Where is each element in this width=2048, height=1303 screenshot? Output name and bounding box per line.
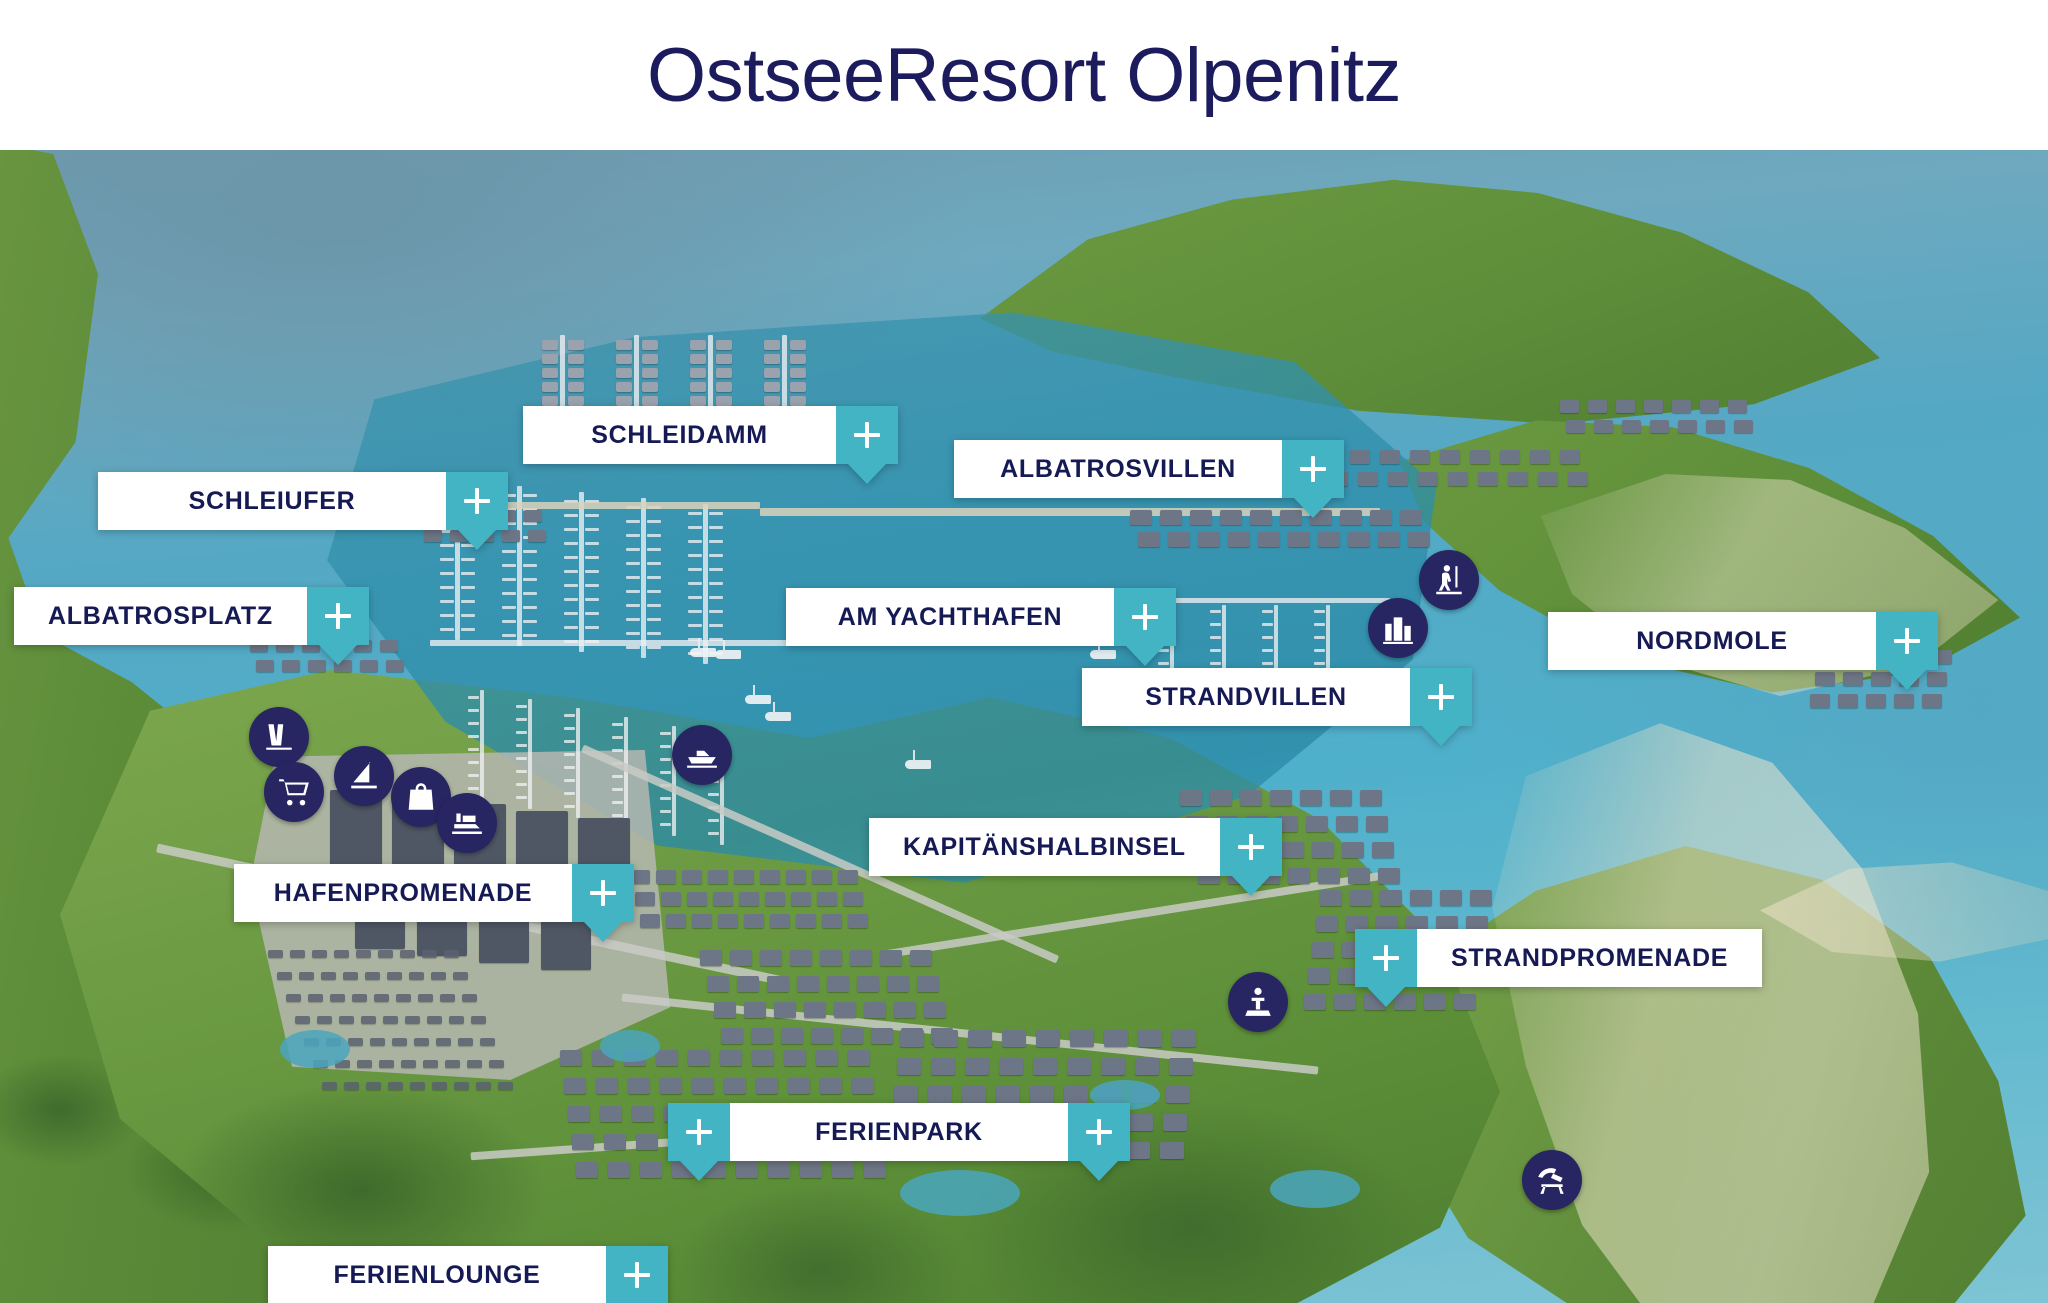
parked-car <box>431 972 446 980</box>
berth-slip <box>647 604 661 607</box>
parked-car <box>414 1038 429 1046</box>
moored-boat <box>764 368 780 378</box>
house-roof <box>767 976 789 992</box>
house-roof <box>968 1030 992 1047</box>
moored-boat <box>790 340 806 350</box>
parked-car <box>405 1016 420 1024</box>
berth-slip <box>647 562 661 565</box>
berth-slip <box>612 749 623 752</box>
house-roof <box>751 1028 773 1044</box>
house-roof <box>1300 790 1322 806</box>
moored-boat <box>716 382 732 392</box>
house-roof <box>636 1134 658 1150</box>
berth-slip <box>564 612 578 615</box>
parked-car <box>277 972 292 980</box>
berth-slip <box>626 618 640 621</box>
house-roof <box>744 914 764 928</box>
plus-pin-right-ferienlounge[interactable] <box>606 1246 668 1303</box>
hotspot-label-ferienpark: FERIENPARK <box>730 1103 1068 1161</box>
berth-slip <box>468 709 479 712</box>
berth-slip <box>626 548 640 551</box>
berth-slip <box>468 735 479 738</box>
house-roof <box>282 660 300 672</box>
house-roof <box>928 1086 952 1103</box>
moored-boat <box>568 368 584 378</box>
house-roof <box>850 950 872 966</box>
house-roof <box>788 1078 810 1094</box>
house-roof <box>720 1050 742 1066</box>
berth-slip <box>440 558 454 561</box>
house-roof <box>1410 450 1430 464</box>
hotspot-kapitaenshalbinsel[interactable]: KAPITÄNSHALBINSEL <box>869 818 1282 876</box>
berth-slip <box>440 572 454 575</box>
plus-pin-right-kapitaenshalbinsel[interactable] <box>1220 818 1282 876</box>
berth-slip <box>626 632 640 635</box>
house-roof <box>1180 790 1202 806</box>
plus-icon <box>590 880 616 906</box>
berth-slip <box>709 582 723 585</box>
house-roof <box>1348 532 1370 547</box>
parked-car <box>317 1016 332 1024</box>
house-roof <box>1734 420 1753 433</box>
sailboat <box>690 648 716 657</box>
parked-car <box>440 994 455 1002</box>
house-roof <box>871 1028 893 1044</box>
parked-car <box>445 1060 460 1068</box>
house-roof <box>857 976 879 992</box>
parked-car <box>339 1016 354 1024</box>
plus-pin-right-albatrosplatz[interactable] <box>307 587 369 645</box>
page-header: OstseeResort Olpenitz <box>0 0 2048 150</box>
motorboat-icon[interactable] <box>672 725 732 785</box>
house-roof <box>744 1002 766 1018</box>
house-roof <box>692 1078 714 1094</box>
house-roof <box>628 1078 650 1094</box>
hotspot-label-kapitaenshalbinsel: KAPITÄNSHALBINSEL <box>869 818 1220 876</box>
berth-slip <box>468 748 479 751</box>
house-roof <box>1454 994 1476 1010</box>
berth-slip <box>688 568 702 571</box>
house-roof <box>841 1028 863 1044</box>
moored-boat <box>542 354 558 364</box>
house-roof <box>1342 842 1364 858</box>
hotspot-label-albatrosvillen: ALBATROSVILLEN <box>954 440 1282 498</box>
pontoon-finger <box>641 498 646 658</box>
house-roof <box>528 530 546 542</box>
house-roof <box>864 1002 886 1018</box>
house-roof <box>714 1002 736 1018</box>
berth-slip <box>709 554 723 557</box>
house-roof <box>1706 420 1725 433</box>
house-roof <box>790 950 812 966</box>
plus-pin-right-hafenpromenade[interactable] <box>572 864 634 922</box>
moored-boat <box>790 382 806 392</box>
moored-boat <box>790 396 806 406</box>
parked-car <box>423 1060 438 1068</box>
parked-car <box>379 1060 394 1068</box>
plus-pin-right-albatrosvillen[interactable] <box>1282 440 1344 498</box>
house-roof <box>1101 1058 1125 1075</box>
berth-slip <box>688 526 702 529</box>
berth-slip <box>612 775 623 778</box>
house-roof <box>1160 1142 1184 1159</box>
parked-car <box>436 1038 451 1046</box>
hotspot-strandpromenade[interactable]: STRANDPROMENADE <box>1355 929 1762 987</box>
parked-car <box>343 972 358 980</box>
house-roof <box>1312 842 1334 858</box>
house-roof <box>1348 868 1370 884</box>
parked-car <box>444 950 459 958</box>
berth-slip <box>564 766 575 769</box>
moored-boat <box>764 354 780 364</box>
house-roof <box>524 510 542 522</box>
berth-slip <box>647 534 661 537</box>
house-roof <box>1030 1086 1054 1103</box>
berth-slip <box>688 582 702 585</box>
hotspot-ferienpark[interactable]: FERIENPARK <box>668 1103 1130 1161</box>
plus-icon <box>624 1262 650 1288</box>
house-roof <box>812 870 832 884</box>
berth-slip <box>564 570 578 573</box>
moored-boat <box>568 354 584 364</box>
house-roof <box>796 914 816 928</box>
plus-pin-left-strandpromenade[interactable] <box>1355 929 1417 987</box>
berth-slip <box>709 610 723 613</box>
parked-car <box>396 994 411 1002</box>
house-roof <box>1644 400 1663 413</box>
berth-slip <box>564 626 578 629</box>
parked-car <box>453 972 468 980</box>
house-roof <box>1336 816 1358 832</box>
house-roof <box>820 1078 842 1094</box>
berth-slip <box>564 792 575 795</box>
house-roof <box>687 892 707 906</box>
moored-boat <box>642 354 658 364</box>
berth-slip <box>516 718 527 721</box>
house-roof <box>1388 472 1408 486</box>
moored-boat <box>616 396 632 406</box>
house-roof <box>1566 420 1585 433</box>
pond <box>600 1030 660 1062</box>
house-roof <box>1410 890 1432 906</box>
moored-boat <box>542 368 558 378</box>
house-roof <box>692 914 712 928</box>
house-roof <box>1400 510 1422 525</box>
berth-slip <box>502 606 516 609</box>
house-roof <box>804 1002 826 1018</box>
parked-car <box>370 1038 385 1046</box>
parked-car <box>400 950 415 958</box>
parked-car <box>365 972 380 980</box>
house-roof <box>800 1162 822 1178</box>
parked-car <box>388 1082 403 1090</box>
plus-icon <box>1300 456 1326 482</box>
house-roof <box>734 870 754 884</box>
plus-pin-right-am-yachthafen[interactable] <box>1114 588 1176 646</box>
house-roof <box>1172 1030 1196 1047</box>
house-roof <box>360 660 378 672</box>
berth-slip <box>564 779 575 782</box>
house-roof <box>1036 1030 1060 1047</box>
shopping-cart-icon[interactable] <box>264 762 324 822</box>
berth-slip <box>1314 662 1325 665</box>
parked-car <box>330 994 345 1002</box>
berth-slip <box>502 550 516 553</box>
berth-slip <box>709 512 723 515</box>
house-roof <box>1135 1058 1159 1075</box>
moored-boat <box>690 382 706 392</box>
hotspot-label-strandvillen: STRANDVILLEN <box>1082 668 1410 726</box>
berth-slip <box>564 556 578 559</box>
berth-slip <box>468 774 479 777</box>
berth-slip <box>612 788 623 791</box>
house-roof <box>1318 532 1340 547</box>
berth-slip <box>626 534 640 537</box>
pontoon-finger <box>560 335 565 410</box>
resort-aerial-map[interactable]: SCHLEIDAMMSCHLEIUFERALBATROSVILLENALBATR… <box>0 150 2048 1303</box>
hotspot-ferienlounge[interactable]: FERIENLOUNGE <box>268 1246 668 1303</box>
house-roof <box>1418 472 1438 486</box>
berth-slip <box>709 568 723 571</box>
parked-car <box>334 950 349 958</box>
hotspot-am-yachthafen[interactable]: AM YACHTHAFEN <box>786 588 1176 646</box>
house-roof <box>1616 400 1635 413</box>
parked-car <box>418 994 433 1002</box>
main-pier <box>430 640 790 646</box>
berth-slip <box>516 783 527 786</box>
berth-slip <box>564 805 575 808</box>
plus-icon <box>325 603 351 629</box>
house-roof <box>1470 450 1490 464</box>
plus-icon <box>1132 604 1158 630</box>
moored-boat <box>690 396 706 406</box>
berth-slip <box>523 494 537 497</box>
berth-slip <box>612 736 623 739</box>
berth-slip <box>564 528 578 531</box>
house-roof <box>424 530 442 542</box>
berth-slip <box>688 624 702 627</box>
berth-slip <box>585 514 599 517</box>
house-roof <box>730 950 752 966</box>
house-roof <box>1672 400 1691 413</box>
house-roof <box>791 892 811 906</box>
house-roof <box>820 950 842 966</box>
moored-boat <box>642 396 658 406</box>
house-roof <box>1350 890 1372 906</box>
berth-slip <box>660 745 671 748</box>
berth-slip <box>1210 610 1221 613</box>
moored-boat <box>568 340 584 350</box>
house-roof <box>1408 532 1430 547</box>
hotspot-label-am-yachthafen: AM YACHTHAFEN <box>786 588 1114 646</box>
house-roof <box>1378 868 1400 884</box>
berth-slip <box>564 598 578 601</box>
parked-car <box>422 950 437 958</box>
plus-icon <box>464 488 490 514</box>
pontoon-finger <box>576 708 580 818</box>
parked-car <box>454 1082 469 1090</box>
house-roof <box>1594 420 1613 433</box>
house-roof <box>1334 994 1356 1010</box>
house-roof <box>1500 450 1520 464</box>
pontoon-finger <box>528 699 532 809</box>
house-roof <box>1922 694 1942 708</box>
house-roof <box>1220 510 1242 525</box>
berth-slip <box>468 696 479 699</box>
berth-slip <box>585 626 599 629</box>
parked-car <box>410 1082 425 1090</box>
moored-boat <box>542 340 558 350</box>
pontoon-finger <box>1274 605 1278 671</box>
berth-slip <box>440 600 454 603</box>
plus-pin-right-strandvillen[interactable] <box>1410 668 1472 726</box>
house-roof <box>765 892 785 906</box>
berth-slip <box>516 770 527 773</box>
house-roof <box>1568 472 1588 486</box>
plus-icon <box>1086 1119 1112 1145</box>
plus-pin-right-nordmole[interactable] <box>1876 612 1938 670</box>
plus-icon <box>1373 945 1399 971</box>
berth-slip <box>647 576 661 579</box>
berth-slip <box>647 590 661 593</box>
plus-pin-right-schleidamm[interactable] <box>836 406 898 464</box>
parked-car <box>467 1060 482 1068</box>
boat-icon[interactable] <box>437 793 497 853</box>
berth-slip <box>585 556 599 559</box>
parked-car <box>322 1082 337 1090</box>
plus-pin-right-schleiufer[interactable] <box>446 472 508 530</box>
house-roof <box>931 1058 955 1075</box>
house-roof <box>1304 994 1326 1010</box>
house-roof <box>713 892 733 906</box>
berth-slip <box>523 634 537 637</box>
hotspot-schleiufer[interactable]: SCHLEIUFER <box>98 472 508 530</box>
berth-slip <box>585 584 599 587</box>
parked-car <box>352 994 367 1002</box>
water-slide-icon[interactable] <box>249 707 309 767</box>
hotspot-strandvillen[interactable]: STRANDVILLEN <box>1082 668 1472 726</box>
house-roof <box>917 976 939 992</box>
sail-flag-icon[interactable] <box>334 746 394 806</box>
house-roof <box>708 870 728 884</box>
parked-car <box>378 950 393 958</box>
berth-slip <box>440 628 454 631</box>
moored-boat <box>616 368 632 378</box>
house-roof <box>1478 472 1498 486</box>
house-roof <box>1366 816 1388 832</box>
house-roof <box>774 1002 796 1018</box>
playground-icon[interactable] <box>1228 972 1288 1032</box>
beach-chair-icon[interactable] <box>1522 1150 1582 1210</box>
hotspot-label-ferienlounge: FERIENLOUNGE <box>268 1246 606 1303</box>
plus-icon <box>1894 628 1920 654</box>
berth-slip <box>708 819 719 822</box>
hotspot-schleidamm[interactable]: SCHLEIDAMM <box>523 406 898 464</box>
house-roof <box>1316 916 1338 932</box>
berth-slip <box>709 526 723 529</box>
hotspot-nordmole[interactable]: NORDMOLE <box>1548 612 1938 670</box>
berth-slip <box>626 590 640 593</box>
berth-slip <box>461 628 475 631</box>
house-roof <box>1588 400 1607 413</box>
berth-slip <box>461 614 475 617</box>
parked-car <box>295 1016 310 1024</box>
paddleboard-icon[interactable] <box>1419 550 1479 610</box>
plus-icon <box>1238 834 1264 860</box>
parked-car <box>321 972 336 980</box>
moored-boat <box>716 368 732 378</box>
parked-car <box>387 972 402 980</box>
house-roof <box>1064 1086 1088 1103</box>
berth-slip <box>523 564 537 567</box>
berth-slip <box>564 542 578 545</box>
house-roof <box>1282 842 1304 858</box>
plus-pin-left-ferienpark[interactable] <box>668 1103 730 1161</box>
house-roof <box>380 640 398 652</box>
moored-boat <box>542 382 558 392</box>
house-roof <box>1470 890 1492 906</box>
parked-car <box>392 1038 407 1046</box>
house-roof <box>1894 694 1914 708</box>
moored-boat <box>616 354 632 364</box>
hotspot-albatrosplatz[interactable]: ALBATROSPLATZ <box>14 587 369 645</box>
parked-car <box>308 994 323 1002</box>
house-roof <box>1728 400 1747 413</box>
berth-slip <box>585 542 599 545</box>
house-roof <box>560 1050 582 1066</box>
berth-slip <box>502 592 516 595</box>
berth-slip <box>626 604 640 607</box>
parked-car <box>449 1016 464 1024</box>
house-roof <box>1168 532 1190 547</box>
house-roof <box>752 1050 774 1066</box>
moored-boat <box>764 340 780 350</box>
house-roof <box>1358 472 1378 486</box>
house-roof <box>962 1086 986 1103</box>
house-roof <box>1210 790 1232 806</box>
moored-boat <box>764 382 780 392</box>
house-roof <box>1372 842 1394 858</box>
house-roof <box>897 1058 921 1075</box>
house-roof <box>1650 420 1669 433</box>
harbour-building-icon[interactable] <box>1368 598 1428 658</box>
berth-slip <box>523 606 537 609</box>
berth-slip <box>626 520 640 523</box>
parked-car <box>489 1060 504 1068</box>
moored-boat <box>690 340 706 350</box>
house-roof <box>1560 400 1579 413</box>
hotspot-albatrosvillen[interactable]: ALBATROSVILLEN <box>954 440 1344 498</box>
house-roof <box>1104 1030 1128 1047</box>
berth-slip <box>516 731 527 734</box>
berth-slip <box>688 554 702 557</box>
sailboat <box>905 760 931 769</box>
pontoon-finger <box>1222 605 1226 671</box>
page-title: OstseeResort Olpenitz <box>647 32 1401 119</box>
house-roof <box>1508 472 1528 486</box>
plus-pin-right-ferienpark[interactable] <box>1068 1103 1130 1161</box>
house-roof <box>572 1134 594 1150</box>
house-roof <box>1560 450 1580 464</box>
house-roof <box>1538 472 1558 486</box>
house-roof <box>707 976 729 992</box>
sailboat <box>745 695 771 704</box>
berth-slip <box>709 540 723 543</box>
berth-slip <box>461 586 475 589</box>
house-roof <box>564 1078 586 1094</box>
hotspot-hafenpromenade[interactable]: HAFENPROMENADE <box>234 864 634 922</box>
moored-boat <box>568 396 584 406</box>
